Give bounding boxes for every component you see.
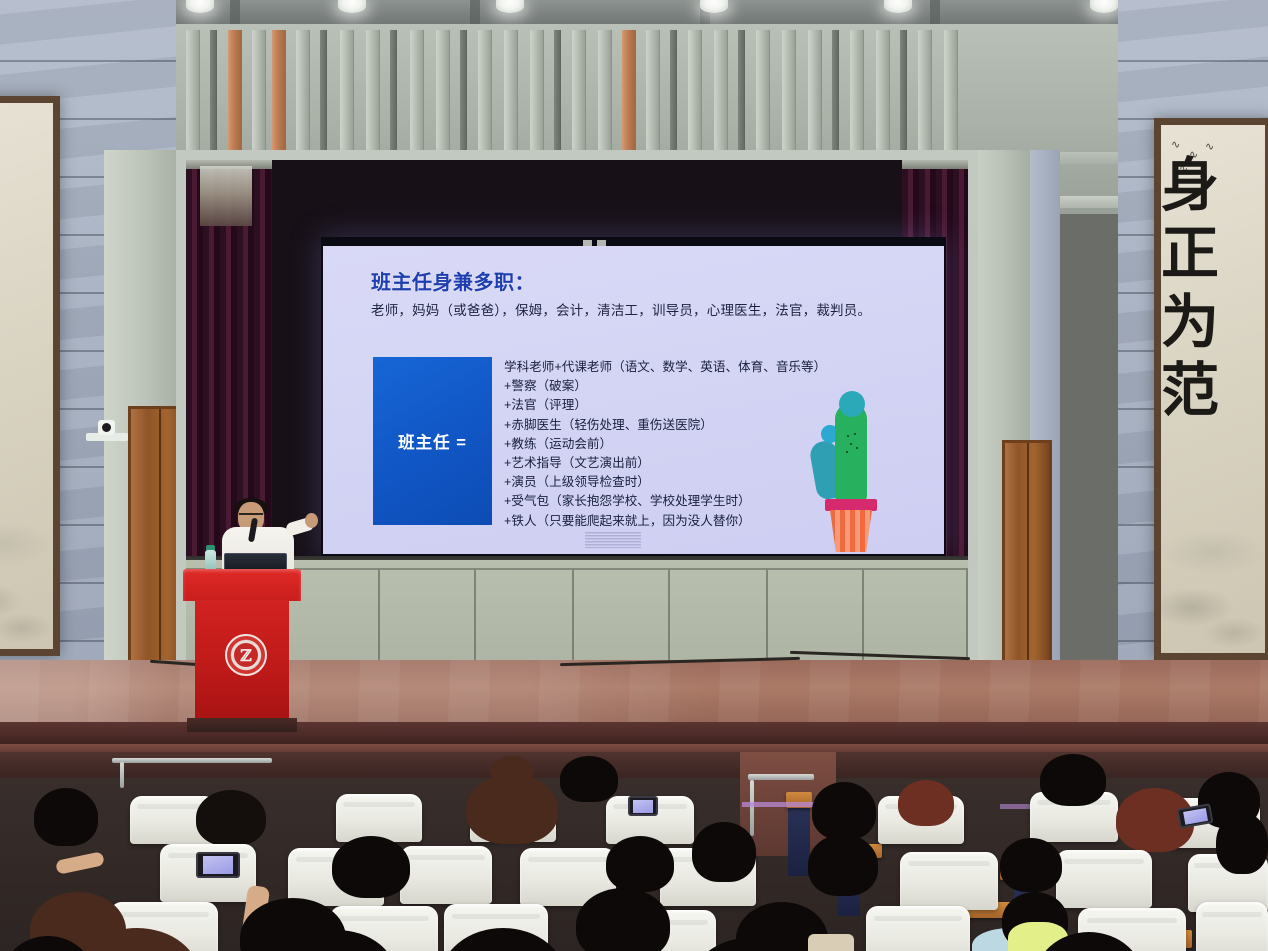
stair-railing <box>748 774 814 780</box>
right-wall-art-panel: ∿ ∿ ∿ ∿ ∿ 身正为范 <box>1154 118 1268 660</box>
slide-bullet: +赤脚医生（轻伤处理、重伤送医院） <box>504 416 834 435</box>
stair-post <box>120 762 124 788</box>
slide-subtitle: 老师，妈妈（或爸爸），保姆，会计，清洁工，训导员，心理医生，法官，裁判员。 <box>371 299 871 319</box>
school-crest-icon: ℤ <box>225 634 267 676</box>
smartphone-icon[interactable] <box>196 852 240 878</box>
ceiling-light-icon <box>700 0 728 13</box>
audience-head <box>332 836 410 898</box>
stair-post <box>788 798 810 876</box>
speaker-glasses-icon <box>239 513 263 518</box>
slide-title: 班主任身兼多职： <box>371 266 535 295</box>
handbag-icon <box>808 934 854 951</box>
audience-head <box>812 782 876 840</box>
ceiling-light-icon <box>186 0 214 13</box>
slide-equation-label: 班主任 = <box>398 429 467 453</box>
audience-head <box>606 836 674 892</box>
seat[interactable] <box>1196 902 1268 951</box>
smartphone-icon[interactable] <box>628 796 658 816</box>
slide-bullet-list: 学科老师+代课老师（语文、数学、英语、体育、音乐等） +警察（破案） +法官（评… <box>504 358 834 531</box>
slide-bullet: +法官（评理） <box>504 396 834 415</box>
audience-area <box>0 752 1268 951</box>
slide-equation-box: 班主任 = <box>373 357 492 525</box>
slide-bullet: +警察（破案） <box>504 377 834 396</box>
audience-arm <box>55 851 105 875</box>
audience-head <box>1040 754 1106 806</box>
left-wall-art-panel <box>0 96 60 656</box>
ceiling-light-icon <box>496 0 524 13</box>
stair-railing <box>112 758 272 763</box>
right-door[interactable] <box>1002 440 1052 680</box>
camera-lens-icon <box>102 423 111 432</box>
auditorium-photo-scene: ∿ ∿ ∿ ∿ ∿ 身正为范 班主任身兼多职： 老师，妈妈（或爸爸），保姆， <box>0 0 1268 951</box>
slide-bullet: 学科老师+代课老师（语文、数学、英语、体育、音乐等） <box>504 358 834 377</box>
audience-head <box>1216 812 1268 874</box>
cactus-icon <box>811 391 883 553</box>
audience-head <box>560 756 618 802</box>
slide-decoration-lines <box>585 532 641 548</box>
audience-head <box>196 790 266 846</box>
phone-screen <box>203 856 233 874</box>
slide-bullet: +教练（运动会前） <box>504 435 834 454</box>
audience-head <box>576 888 670 951</box>
ceiling-light-icon <box>338 0 366 13</box>
audience-head <box>1000 838 1062 892</box>
ceiling-light-icon <box>1090 0 1118 13</box>
podium-body: ℤ <box>195 600 289 720</box>
seat[interactable] <box>900 852 998 910</box>
slide-bullet: +受气包（家长抱怨学校、学校处理学生时） <box>504 492 834 511</box>
podium: ℤ <box>183 569 301 734</box>
speaker-hand <box>305 513 318 528</box>
audience-head <box>898 780 954 826</box>
calligraphy-text: 身正为范 <box>1161 151 1259 425</box>
podium-base <box>187 718 297 732</box>
ceiling-light-icon <box>884 0 912 13</box>
slide-bullet: +艺术指导（文艺演出前） <box>504 454 834 473</box>
slide-bullet: +铁人（只要能爬起来就上，因为没人替你） <box>504 512 834 531</box>
podium-top <box>183 569 301 601</box>
seat[interactable] <box>336 794 422 842</box>
audience-head <box>692 822 756 882</box>
seat[interactable] <box>866 906 970 951</box>
seat[interactable] <box>1056 850 1152 908</box>
audience-head <box>34 788 98 846</box>
stair-post <box>750 780 754 836</box>
lotus-motif-icon <box>1161 400 1265 653</box>
seat[interactable] <box>400 846 492 904</box>
audience-head <box>466 774 558 844</box>
led-screen[interactable]: 班主任身兼多职： 老师，妈妈（或爸爸），保姆，会计，清洁工，训导员，心理医生，法… <box>321 237 946 557</box>
audience-head <box>808 834 878 896</box>
presentation-slide: 班主任身兼多职： 老师，妈妈（或爸爸），保姆，会计，清洁工，训导员，心理医生，法… <box>323 246 944 554</box>
slide-bullet: +演员（上级领导检查时） <box>504 473 834 492</box>
